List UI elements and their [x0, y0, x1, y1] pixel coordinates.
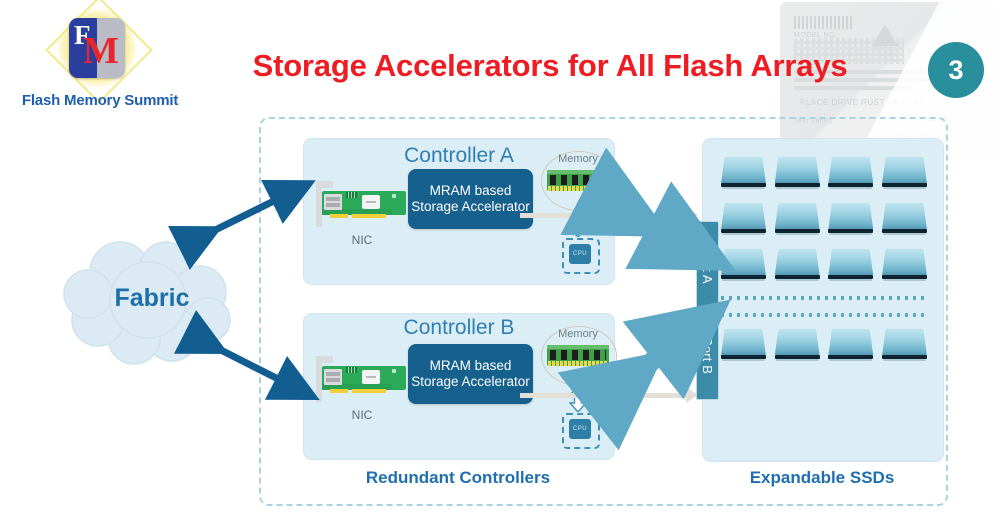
ssd-icon[interactable] [775, 203, 820, 235]
ssd-icon[interactable] [882, 249, 927, 281]
ssd-row [721, 329, 927, 361]
nic-led-icon [392, 194, 396, 198]
fms-logo-text: Flash Memory Summit [10, 92, 190, 109]
ssd-icon[interactable] [721, 249, 766, 281]
memory-dimm-icon-b [547, 345, 609, 366]
memory-label-b: Memory [541, 328, 615, 340]
cpu-icon-a: CPU [562, 238, 600, 274]
page-title: Storage Accelerators for All Flash Array… [200, 48, 900, 84]
ssd-icon[interactable] [828, 157, 873, 189]
nic-sfp-port-icon [324, 369, 342, 385]
ssd-icon[interactable] [775, 157, 820, 189]
dimm-chips [550, 175, 606, 185]
nic-controller-chip-icon [362, 195, 380, 209]
ssd-grid [721, 157, 927, 375]
nic-card-a [316, 181, 408, 229]
controller-b-panel[interactable]: Controller B NIC MRAM based Storage Acce… [303, 313, 615, 460]
port-a-tab[interactable]: Port A [696, 221, 719, 310]
ssd-ellipsis-row [721, 295, 927, 300]
ssd-row [721, 249, 927, 281]
dimm-top-edge [547, 170, 609, 174]
nic-label-a: NIC [316, 233, 408, 247]
dimm-gold-contacts [548, 186, 608, 191]
port-b-label: Port B [700, 337, 715, 374]
slide-number-badge: 3 [928, 42, 984, 98]
nic-card-b [316, 356, 408, 404]
ssd-icon[interactable] [828, 329, 873, 361]
nic-gold-fingers-long [352, 214, 386, 218]
ssd-ellipsis-row [721, 312, 927, 317]
nic-small-chip-icon [346, 367, 357, 373]
ssd-icon[interactable] [828, 249, 873, 281]
ssd-icon[interactable] [721, 203, 766, 235]
ssd-icon[interactable] [721, 157, 766, 189]
dimm-gold-contacts [548, 361, 608, 366]
controller-a-panel[interactable]: Controller A NIC MRAM based Storage Acce… [303, 138, 615, 285]
nic-controller-chip-icon [362, 370, 380, 384]
memory-cpu-double-arrow-icon-b [569, 386, 587, 412]
nic-label-b: NIC [316, 408, 408, 422]
caption-expandable-ssds: Expandable SSDs [702, 468, 942, 488]
ssd-row [721, 203, 927, 235]
nic-led-icon [392, 369, 396, 373]
nic-sfp-port-icon [324, 194, 342, 210]
ssd-enclosure[interactable]: Port A Port B [702, 138, 944, 462]
nic-gold-fingers-short [330, 214, 348, 218]
dimm-chips [550, 350, 606, 360]
fms-logo-mark: F M [55, 8, 139, 88]
logo-letter-m: M [83, 32, 119, 70]
fms-logo: F M Flash Memory Summit [10, 8, 190, 108]
ssd-icon[interactable] [775, 329, 820, 361]
memory-label-a: Memory [541, 153, 615, 165]
ssd-icon[interactable] [721, 329, 766, 361]
storage-accelerator-b[interactable]: MRAM based Storage Accelerator [408, 344, 533, 404]
port-b-tab[interactable]: Port B [696, 311, 719, 400]
storage-accelerator-a[interactable]: MRAM based Storage Accelerator [408, 169, 533, 229]
cpu-icon-b: CPU [562, 413, 600, 449]
ssd-icon[interactable] [882, 157, 927, 189]
slide-canvas: MODEL NO PLACE DRIVE RUST AN HERE Test L… [0, 0, 1001, 512]
memory-dimm-icon-a [547, 170, 609, 191]
tan-connector-a [520, 213, 688, 218]
ssd-icon[interactable] [882, 203, 927, 235]
ssd-row [721, 157, 927, 189]
ssd-icon[interactable] [828, 203, 873, 235]
nic-gold-fingers-short [330, 389, 348, 393]
nic-bracket-tab-icon [320, 181, 333, 188]
fabric-label: Fabric [62, 284, 242, 313]
cpu-core-label-a: CPU [569, 244, 591, 264]
cpu-core-label-b: CPU [569, 419, 591, 439]
nic-small-chip-icon [346, 192, 357, 198]
ssd-icon[interactable] [882, 329, 927, 361]
nic-bracket-tab-icon [320, 356, 333, 363]
tan-connector-b [520, 393, 688, 398]
port-a-label: Port A [700, 247, 715, 284]
nic-gold-fingers-long [352, 389, 386, 393]
dimm-top-edge [547, 345, 609, 349]
caption-redundant-controllers: Redundant Controllers [303, 468, 613, 488]
ssd-icon[interactable] [775, 249, 820, 281]
fabric-cloud[interactable]: Fabric [62, 238, 242, 366]
